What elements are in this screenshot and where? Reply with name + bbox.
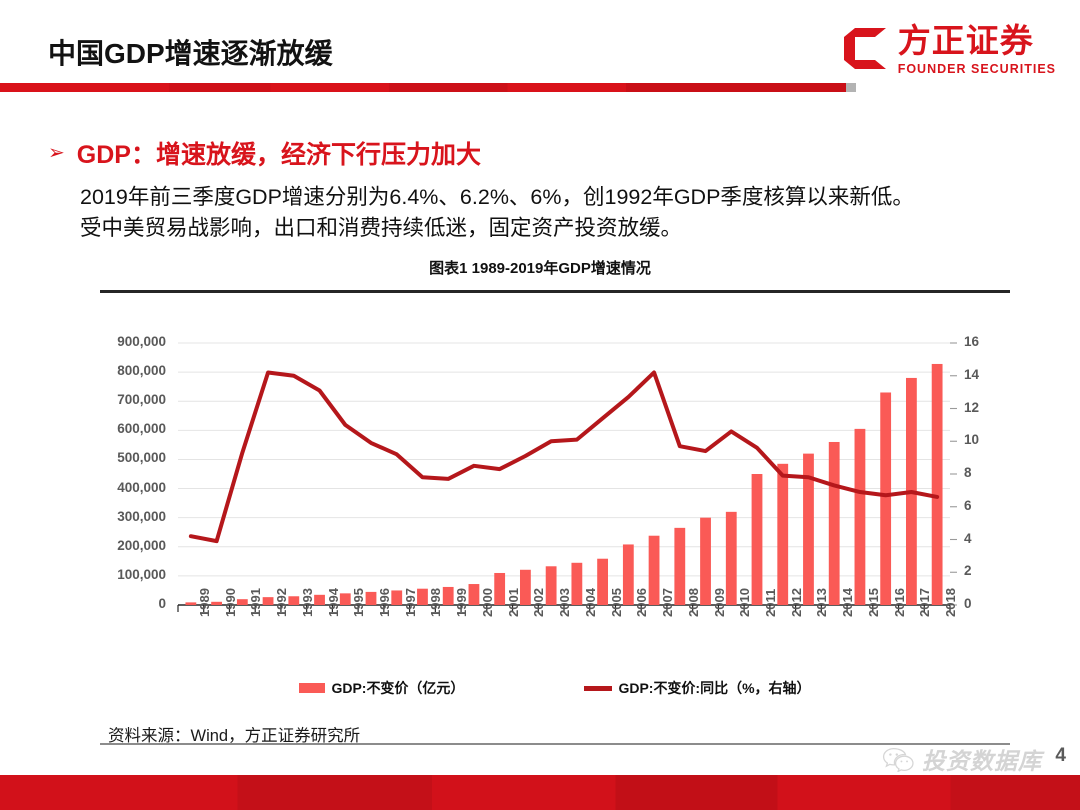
x-axis-tick-label: 2018 xyxy=(943,588,958,617)
page-title: 中国GDP增速逐渐放缓 xyxy=(48,32,333,72)
x-axis-tick-label: 1993 xyxy=(300,588,315,617)
x-axis-tick-label: 2011 xyxy=(763,589,778,617)
y2-axis-tick-label: 8 xyxy=(964,465,972,480)
legend-bar-swatch-icon xyxy=(299,683,325,693)
chart-bar xyxy=(674,528,685,605)
y2-axis-tick-label: 10 xyxy=(964,432,979,447)
y-axis-tick-label: 400,000 xyxy=(100,480,166,495)
x-axis-tick-label: 2000 xyxy=(480,588,495,617)
founder-logo-icon xyxy=(842,26,888,72)
page-number: 4 xyxy=(1055,745,1066,767)
chart-container: 0100,000200,000300,000400,000500,000600,… xyxy=(100,290,1010,745)
chart-bar xyxy=(597,559,608,605)
x-axis-tick-label: 2005 xyxy=(609,588,624,617)
y2-axis-tick-label: 4 xyxy=(964,531,972,546)
x-axis-tick-label: 1994 xyxy=(326,588,341,617)
chart-bar xyxy=(649,536,660,605)
paragraph-line-1: 2019年前三季度GDP增速分别为6.4%、6.2%、6%，创1992年GDP季… xyxy=(80,182,1010,213)
legend-item-line: GDP:不变价:同比（%，右轴） xyxy=(584,678,810,698)
chart-bar xyxy=(546,566,557,605)
y-axis-tick-label: 800,000 xyxy=(100,363,166,378)
paragraph-line-2: 受中美贸易战影响，出口和消费持续低迷，固定资产投资放缓。 xyxy=(80,213,1010,244)
x-axis-tick-label: 2002 xyxy=(531,588,546,617)
x-axis-tick-label: 2010 xyxy=(737,588,752,617)
y-axis-tick-label: 100,000 xyxy=(100,567,166,582)
chart-bar xyxy=(829,442,840,605)
x-axis-tick-label: 1996 xyxy=(377,588,392,617)
y-axis-tick-label: 200,000 xyxy=(100,538,166,553)
x-axis-tick-label: 2012 xyxy=(789,588,804,617)
y2-axis-tick-label: 14 xyxy=(964,367,979,382)
x-axis-tick-label: 2015 xyxy=(866,588,881,617)
chart-bar xyxy=(700,518,711,605)
legend-line-label: GDP:不变价:同比（%，右轴） xyxy=(618,678,810,698)
chart-bar xyxy=(494,573,505,605)
chart-bar xyxy=(366,592,377,605)
x-axis-tick-label: 2009 xyxy=(712,588,727,617)
chart-bar xyxy=(752,474,763,605)
x-axis-tick-label: 1990 xyxy=(223,588,238,617)
chart-bar xyxy=(263,597,274,605)
x-axis-tick-label: 2007 xyxy=(660,588,675,617)
y2-axis-tick-label: 16 xyxy=(964,334,979,349)
chart-bar xyxy=(288,596,299,605)
x-axis-tick-label: 1992 xyxy=(274,588,289,617)
chart-bar xyxy=(391,590,402,605)
y-axis-tick-label: 700,000 xyxy=(100,392,166,407)
x-axis-tick-label: 2013 xyxy=(814,588,829,617)
footer-bar xyxy=(0,775,1080,810)
y-axis-tick-label: 600,000 xyxy=(100,421,166,436)
x-axis-tick-label: 1995 xyxy=(351,588,366,617)
chart-bar xyxy=(443,587,454,605)
chart-bar xyxy=(314,595,325,605)
chart-bar xyxy=(417,589,428,605)
x-axis-tick-label: 2017 xyxy=(917,588,932,617)
chart-svg xyxy=(100,293,1010,743)
y-axis-tick-label: 900,000 xyxy=(100,334,166,349)
x-axis-tick-label: 1999 xyxy=(454,588,469,617)
x-axis-tick-label: 2003 xyxy=(557,588,572,617)
body-paragraph: 2019年前三季度GDP增速分别为6.4%、6.2%、6%，创1992年GDP季… xyxy=(80,182,1010,244)
chart-bar xyxy=(726,512,737,605)
source-note: 资料来源：Wind，方正证券研究所 xyxy=(108,722,360,746)
chart-bar xyxy=(880,392,891,605)
logo-chinese-name: 方正证券 xyxy=(898,24,1034,59)
chart-bar xyxy=(237,599,248,605)
y-axis-tick-label: 300,000 xyxy=(100,509,166,524)
chart-bar xyxy=(469,584,480,605)
chart-bar xyxy=(520,570,531,605)
x-axis-tick-label: 2004 xyxy=(583,588,598,617)
x-axis-tick-label: 2014 xyxy=(840,588,855,617)
chart-plot-area: 0100,000200,000300,000400,000500,000600,… xyxy=(100,293,1010,743)
bullet-arrow-icon: ➢ xyxy=(48,143,65,163)
chart-bar xyxy=(185,602,196,605)
x-axis-tick-label: 1989 xyxy=(197,588,212,617)
bullet-heading-label: GDP：增速放缓，经济下行压力加大 xyxy=(77,135,481,171)
chart-bar xyxy=(571,563,582,605)
watermark: 投资数据库 xyxy=(882,742,1042,776)
y2-axis-tick-label: 12 xyxy=(964,400,979,415)
y2-axis-tick-label: 6 xyxy=(964,498,972,513)
chart-bar xyxy=(211,602,222,605)
logo-text: 方正证券 FOUNDER SECURITIES xyxy=(898,24,1056,76)
legend-bar-label: GDP:不变价（亿元） xyxy=(331,678,464,698)
legend-line-swatch-icon xyxy=(584,686,612,691)
chart-bar xyxy=(340,593,351,605)
chart-bar xyxy=(855,429,866,605)
chart-bar xyxy=(777,464,788,605)
slide-header: 中国GDP增速逐渐放缓 方正证券 FOUNDER SECURITIES xyxy=(0,0,1080,100)
watermark-label: 投资数据库 xyxy=(922,742,1042,776)
chart-line-series xyxy=(191,372,937,541)
chart-legend: GDP:不变价（亿元） GDP:不变价:同比（%，右轴） xyxy=(100,678,1010,698)
x-axis-tick-label: 1998 xyxy=(428,588,443,617)
header-divider-bar xyxy=(0,83,846,92)
y2-axis-tick-label: 2 xyxy=(964,563,972,578)
wechat-icon xyxy=(882,746,914,772)
chart-bar xyxy=(932,364,943,605)
y-axis-tick-label: 0 xyxy=(100,596,166,611)
bullet-heading: ➢ GDP：增速放缓，经济下行压力加大 xyxy=(48,135,481,171)
chart-bar xyxy=(623,544,634,605)
header-divider-cap xyxy=(846,83,856,92)
x-axis-tick-label: 1991 xyxy=(248,588,263,617)
company-logo: 方正证券 FOUNDER SECURITIES xyxy=(842,24,1056,76)
logo-english-name: FOUNDER SECURITIES xyxy=(898,62,1056,76)
figure-title: 图表1 1989-2019年GDP增速情况 xyxy=(0,257,1080,278)
y2-axis-tick-label: 0 xyxy=(964,596,972,611)
x-axis-tick-label: 2001 xyxy=(506,588,521,617)
x-axis-tick-label: 2006 xyxy=(634,588,649,617)
x-axis-tick-label: 2008 xyxy=(686,588,701,617)
y-axis-tick-label: 500,000 xyxy=(100,450,166,465)
x-axis-tick-label: 2016 xyxy=(892,588,907,617)
x-axis-tick-label: 1997 xyxy=(403,588,418,617)
legend-item-bar: GDP:不变价（亿元） xyxy=(299,678,464,698)
